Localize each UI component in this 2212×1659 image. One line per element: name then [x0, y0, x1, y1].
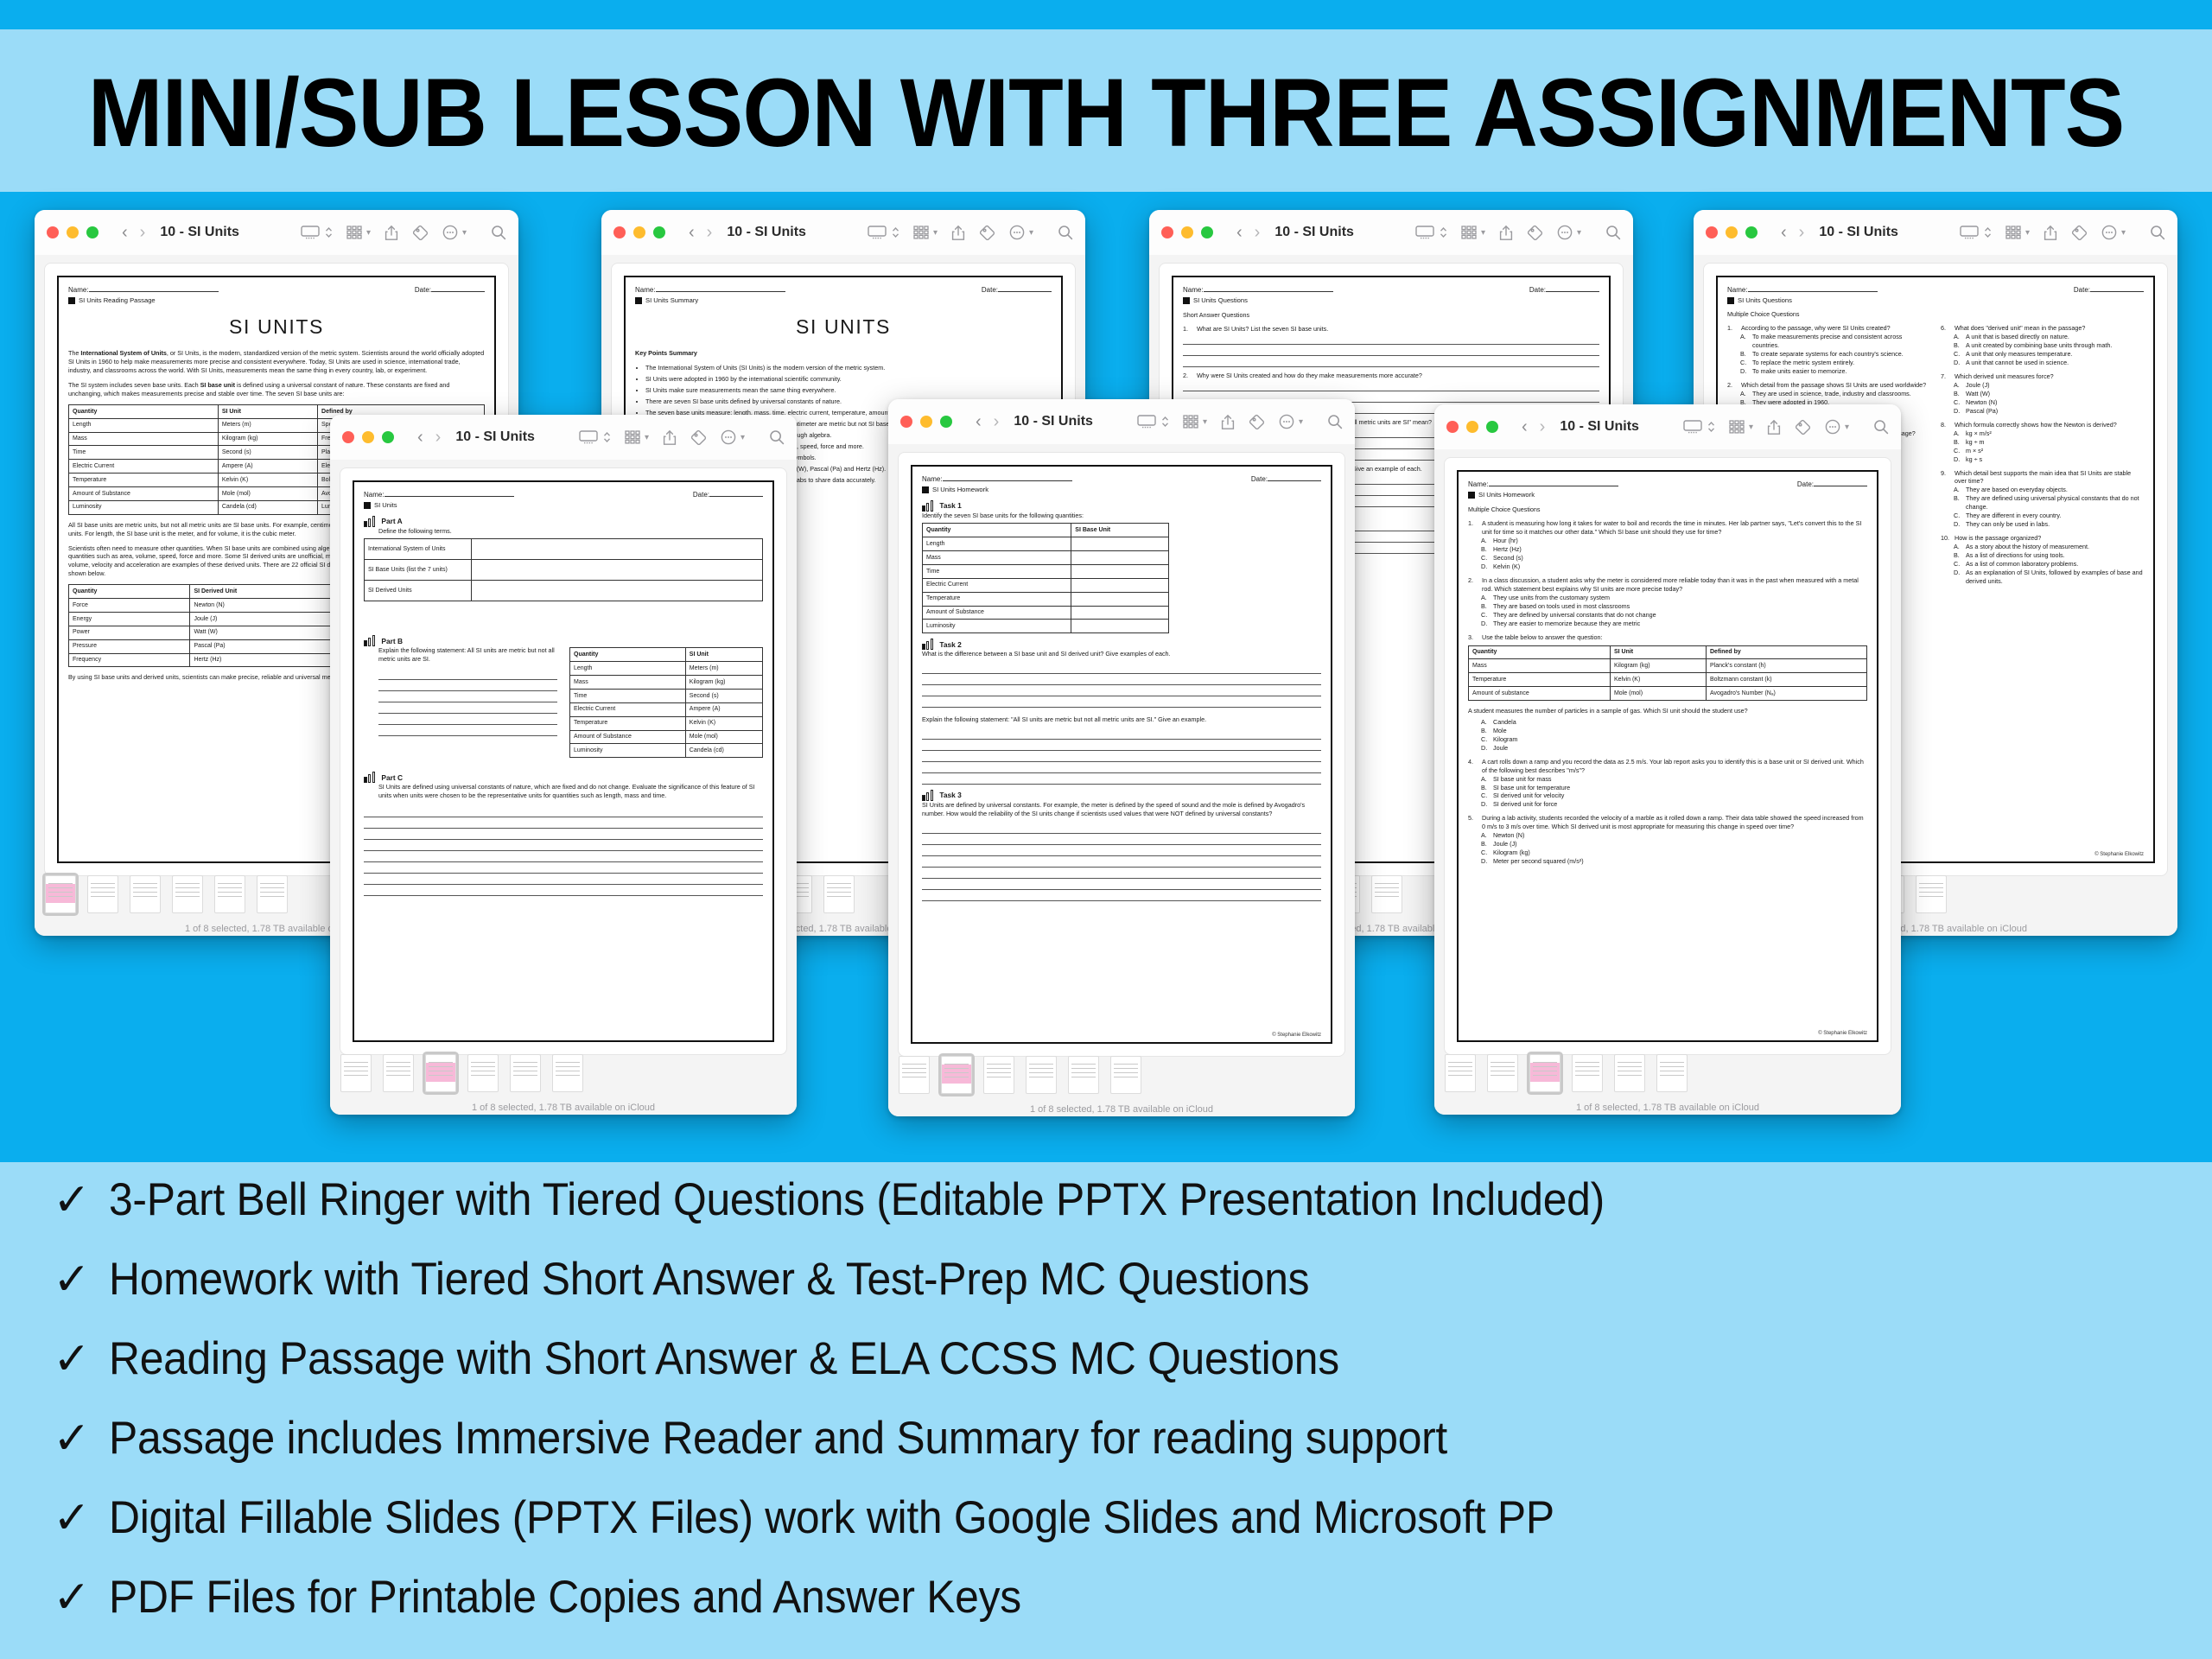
forward-button[interactable]: › — [140, 223, 146, 243]
date-field-label: Date: — [2074, 285, 2144, 295]
mc-option: B.They are based on tools used in most c… — [1481, 602, 1867, 611]
share-icon[interactable] — [1767, 419, 1781, 435]
window-titlebar[interactable]: ‹ › 10 - SI Units ▾ ▾ — [601, 210, 1085, 255]
zoom-button[interactable] — [1201, 226, 1213, 238]
grid-view-icon[interactable] — [625, 430, 640, 444]
minimize-button[interactable] — [67, 226, 79, 238]
window-title: 10 - SI Units — [1014, 414, 1093, 429]
more-actions-icon[interactable] — [1557, 225, 1573, 240]
task-2-instruction: What is the difference between a SI base… — [922, 650, 1321, 658]
cell: Kelvin (K) — [218, 474, 317, 487]
window-content: Name: Date: SI Units Homework Task 1 Ide… — [888, 444, 1355, 1116]
display-icon[interactable] — [1960, 226, 1979, 239]
feature-list: ✓3-Part Bell Ringer with Tiered Question… — [35, 1173, 2195, 1650]
chevron-down-icon[interactable]: ▾ — [1481, 228, 1485, 238]
task-3-instruction: SI Units are defined by universal consta… — [922, 801, 1321, 818]
back-button[interactable]: ‹ — [417, 428, 423, 448]
forward-button[interactable]: › — [1799, 223, 1805, 243]
traffic-lights[interactable] — [900, 416, 952, 428]
zoom-button[interactable] — [653, 226, 665, 238]
date-field-label: Date: — [1797, 480, 1867, 489]
search-icon[interactable] — [769, 429, 785, 445]
top-accent-strip — [0, 0, 2212, 29]
check-icon: ✓ — [35, 1257, 109, 1302]
answer-line — [1183, 356, 1599, 367]
table-row: TemperatureKelvin (K)Boltzmann constant … — [1469, 673, 1867, 687]
grid-view-icon[interactable] — [913, 226, 929, 239]
feature-item: ✓Homework with Tiered Short Answer & Tes… — [35, 1253, 2195, 1332]
share-icon[interactable] — [1499, 225, 1513, 241]
search-icon[interactable] — [2150, 225, 2165, 240]
traffic-lights[interactable] — [613, 226, 665, 238]
window-title: 10 - SI Units — [455, 429, 535, 445]
window-bell-ringer[interactable]: ‹ › 10 - SI Units ▾ ▾ Name: Date: SI Uni… — [330, 415, 797, 1115]
cell: Kilogram (kg) — [1610, 659, 1706, 673]
part-c-header: Part C — [364, 772, 763, 783]
forward-button[interactable]: › — [1540, 417, 1546, 437]
mc-option: C.A unit that only measures temperature. — [1954, 350, 2144, 359]
mc-options: A.Newton (N)B.Joule (J)C.Kilogram (kg)D.… — [1481, 831, 1867, 866]
file-thumbnail[interactable] — [214, 875, 245, 913]
cell: Kelvin (K) — [685, 716, 762, 730]
question-number: 7. — [1941, 372, 1950, 381]
column-header: Quantity — [1469, 645, 1611, 659]
mc-substem: A student measures the number of particl… — [1468, 707, 1867, 715]
file-thumbnail[interactable] — [1487, 1054, 1518, 1092]
answer-line — [922, 728, 1321, 740]
minimize-button[interactable] — [920, 416, 932, 428]
answer-line — [364, 840, 763, 851]
zoom-button[interactable] — [382, 431, 394, 443]
task-2-followup: Explain the following statement: "All SI… — [922, 715, 1321, 724]
zoom-button[interactable] — [86, 226, 99, 238]
minimize-button[interactable] — [1466, 421, 1478, 433]
stepper-icon[interactable] — [325, 226, 333, 239]
file-thumbnail[interactable] — [552, 1054, 583, 1092]
back-button[interactable]: ‹ — [976, 412, 982, 432]
list-item: SI Units make sure measurements mean the… — [645, 386, 1052, 395]
cell: Mass — [923, 551, 1071, 565]
answer-line — [922, 879, 1321, 890]
status-bar: 1 of 8 selected, 1.78 TB available on iC… — [330, 1103, 797, 1113]
grid-view-icon[interactable] — [1183, 415, 1198, 429]
answer-line — [922, 685, 1321, 696]
cell: Force — [69, 599, 190, 613]
chevron-down-icon[interactable]: ▾ — [2121, 228, 2126, 238]
cell: Temperature — [570, 716, 686, 730]
cell: Amount of Substance — [923, 606, 1071, 620]
stepper-icon[interactable] — [1984, 226, 1992, 239]
search-icon[interactable] — [491, 225, 506, 240]
square-icon — [364, 502, 371, 509]
forward-button[interactable]: › — [1255, 223, 1261, 243]
chevron-down-icon[interactable]: ▾ — [1577, 228, 1581, 238]
display-icon[interactable] — [579, 430, 598, 444]
mc-option: D.As an explanation of SI Units, followe… — [1954, 569, 2144, 586]
file-thumbnail-strip[interactable] — [899, 1054, 1344, 1094]
chevron-down-icon[interactable]: ▾ — [741, 433, 745, 442]
answer-line — [378, 680, 557, 691]
grid-view-icon[interactable] — [2005, 226, 2021, 239]
cell-blank — [1071, 578, 1169, 592]
mc-option: C.Kilogram (kg) — [1481, 849, 1867, 857]
chevron-down-icon[interactable]: ▾ — [1029, 228, 1033, 238]
search-icon[interactable] — [1327, 414, 1343, 429]
column-header: Quantity — [69, 404, 219, 418]
check-icon: ✓ — [35, 1416, 109, 1461]
back-button[interactable]: ‹ — [689, 223, 695, 243]
back-button[interactable]: ‹ — [1236, 223, 1243, 243]
file-thumbnail[interactable] — [941, 1056, 972, 1094]
date-field-label: Date: — [693, 490, 763, 499]
mc-option: B.They are defined using universal physi… — [1954, 494, 2144, 512]
question-number: 1. — [1727, 324, 1737, 333]
grid-view-icon[interactable] — [1729, 420, 1745, 434]
mc-option: D.To make units easier to memorize. — [1740, 367, 1930, 376]
more-actions-icon[interactable] — [1279, 414, 1294, 429]
back-button[interactable]: ‹ — [1781, 223, 1787, 243]
file-thumbnail[interactable] — [983, 1056, 1014, 1094]
chevron-down-icon[interactable]: ▾ — [1299, 417, 1303, 427]
table-row: TemperatureKelvin (K) — [570, 716, 763, 730]
minimize-button[interactable] — [362, 431, 374, 443]
mc-question: 3. Use the table below to answer the que… — [1468, 633, 1867, 753]
mc-options: A.Joule (J)B.Watt (W)C.Newton (N)D.Pasca… — [1954, 381, 2144, 416]
answer-line — [1183, 345, 1599, 356]
answer-line — [378, 669, 557, 680]
check-icon: ✓ — [35, 1178, 109, 1223]
window-homework-mc[interactable]: ‹ › 10 - SI Units ▾ ▾ Name: Date: SI Uni… — [1434, 404, 1901, 1115]
tag-icon[interactable] — [690, 429, 707, 445]
answer-line — [378, 714, 557, 725]
name-date-row: Name: Date: — [922, 474, 1321, 484]
file-thumbnail[interactable] — [1529, 1054, 1560, 1092]
chevron-down-icon[interactable]: ▾ — [645, 433, 649, 442]
file-thumbnail[interactable] — [1068, 1056, 1099, 1094]
answer-line — [922, 740, 1321, 751]
file-thumbnail[interactable] — [899, 1056, 930, 1094]
file-thumbnail[interactable] — [425, 1054, 456, 1092]
file-thumbnail[interactable] — [510, 1054, 541, 1092]
name-field-label: Name: — [364, 490, 514, 499]
cell-blank — [1071, 592, 1169, 606]
mc-option: C.SI derived unit for velocity — [1481, 791, 1867, 800]
chevron-down-icon[interactable]: ▾ — [2025, 228, 2030, 238]
close-button[interactable] — [613, 226, 626, 238]
file-thumbnail-strip[interactable] — [1445, 1052, 1891, 1092]
mc-option: C.Newton (N) — [1954, 398, 2144, 407]
file-thumbnail[interactable] — [1371, 875, 1402, 913]
traffic-lights[interactable] — [1706, 226, 1758, 238]
mc-options: A.They are based on everyday objects.B.T… — [1954, 486, 2144, 529]
tag-icon[interactable] — [2071, 225, 2088, 240]
mc-option: D.Pascal (Pa) — [1954, 407, 2144, 416]
list-item: SI Units were adopted in 1960 by the int… — [645, 375, 1052, 384]
answer-line — [922, 696, 1321, 708]
minimize-button[interactable] — [1181, 226, 1193, 238]
more-actions-icon[interactable] — [442, 225, 458, 240]
share-icon[interactable] — [1221, 414, 1235, 430]
window-content: Name: Date: SI Units Part A Define the f… — [330, 460, 797, 1115]
cell: Ampere (A) — [218, 460, 317, 474]
file-thumbnail[interactable] — [1614, 1054, 1645, 1092]
more-actions-icon[interactable] — [1825, 419, 1840, 435]
file-thumbnail[interactable] — [383, 1054, 414, 1092]
mc-option: D.Kelvin (K) — [1481, 563, 1867, 571]
question-stem: Which detail from the passage shows SI U… — [1741, 381, 1926, 390]
display-icon[interactable] — [1683, 420, 1702, 434]
answer-line — [922, 890, 1321, 901]
minimize-button[interactable] — [633, 226, 645, 238]
window-titlebar[interactable]: ‹ › 10 - SI Units ▾ ▾ — [35, 210, 518, 255]
feature-item: ✓Reading Passage with Short Answer & ELA… — [35, 1332, 2195, 1412]
table-row: MassKilogram (kg) — [570, 676, 763, 690]
chevron-down-icon[interactable]: ▾ — [1749, 423, 1753, 432]
traffic-lights[interactable] — [1446, 421, 1498, 433]
zoom-button[interactable] — [1486, 421, 1498, 433]
stepper-icon[interactable] — [603, 430, 611, 444]
question-stem: A cart rolls down a ramp and you record … — [1482, 758, 1867, 775]
window-titlebar[interactable]: ‹ › 10 - SI Units ▾ ▾ — [1694, 210, 2177, 255]
cell: Kelvin (K) — [1610, 673, 1706, 687]
back-button[interactable]: ‹ — [122, 223, 128, 243]
cell: Time — [570, 689, 686, 702]
mc-column-right: 6. What does "derived unit" mean in the … — [1941, 324, 2144, 590]
answer-line — [364, 806, 763, 817]
task-1-header: Task 1 — [922, 501, 1321, 512]
forward-button[interactable]: › — [435, 428, 442, 448]
file-thumbnail[interactable] — [87, 875, 118, 913]
document-tag: SI Units — [364, 501, 763, 510]
answer-line — [364, 885, 763, 896]
mc-question: 7. Which derived unit measures force? A.… — [1941, 372, 2144, 416]
chevron-down-icon[interactable]: ▾ — [933, 228, 938, 238]
mc-option: A.kg × m/s² — [1954, 429, 2144, 438]
file-thumbnail-strip[interactable] — [340, 1052, 786, 1092]
close-button[interactable] — [342, 431, 354, 443]
homework-mc-document: Name: Date: SI Units Homework Multiple C… — [1468, 480, 1867, 866]
search-icon[interactable] — [1605, 225, 1621, 240]
mc-option: C.They are defined by universal constant… — [1481, 611, 1867, 620]
file-thumbnail[interactable] — [1572, 1054, 1603, 1092]
share-icon[interactable] — [385, 225, 398, 241]
bar-chart-icon — [364, 517, 375, 527]
answer-line — [378, 702, 557, 714]
file-thumbnail[interactable] — [172, 875, 203, 913]
mc-option: C.To replace the metric system entirely. — [1740, 359, 1930, 367]
mc-options: A.They use units from the customary syst… — [1481, 594, 1867, 628]
cell: Power — [69, 626, 190, 639]
document-preview[interactable]: Name: Date: SI Units Part A Define the f… — [340, 468, 786, 1054]
cell: Mass — [570, 676, 686, 690]
chevron-down-icon[interactable]: ▾ — [1203, 417, 1207, 427]
table-row: Electric Current — [923, 578, 1169, 592]
document-preview[interactable]: Name: Date: SI Units Homework Multiple C… — [1445, 458, 1891, 1054]
close-button[interactable] — [1446, 421, 1459, 433]
file-thumbnail[interactable] — [1445, 1054, 1476, 1092]
name-field-label: Name: — [68, 285, 219, 295]
section-heading: Multiple Choice Questions — [1468, 505, 1867, 514]
answer-line — [378, 725, 557, 736]
answer-cell[interactable] — [472, 560, 763, 581]
forward-button[interactable]: › — [707, 223, 713, 243]
answer-cell[interactable] — [472, 539, 763, 560]
list-item: The International System of Units (SI Un… — [645, 364, 1052, 372]
copyright-text: © Stephanie Elkowitz — [1272, 1032, 1321, 1039]
grid-view-icon[interactable] — [346, 226, 362, 239]
share-icon[interactable] — [663, 429, 677, 446]
file-thumbnail[interactable] — [340, 1054, 372, 1092]
cell-blank — [1071, 537, 1169, 551]
zoom-button[interactable] — [1745, 226, 1758, 238]
mc-option: B.Mole — [1481, 727, 1867, 735]
name-date-row: Name: Date: — [1468, 480, 1867, 489]
answer-cell[interactable] — [472, 581, 763, 601]
chevron-down-icon[interactable]: ▾ — [366, 228, 371, 238]
stepper-icon[interactable] — [1707, 420, 1715, 434]
answer-line — [364, 851, 763, 862]
display-icon[interactable] — [301, 226, 320, 239]
poster-root: MINI/SUB LESSON WITH THREE ASSIGNMENTS ‹… — [0, 0, 2212, 1659]
date-field-label: Date: — [415, 285, 485, 295]
cell: Ampere (A) — [685, 702, 762, 716]
file-thumbnail[interactable] — [1656, 1054, 1688, 1092]
close-button[interactable] — [1706, 226, 1718, 238]
minimize-button[interactable] — [1726, 226, 1738, 238]
feature-item-label: Passage includes Immersive Reader and Su… — [109, 1412, 1447, 1465]
answer-line — [922, 845, 1321, 856]
stepper-icon[interactable] — [1440, 226, 1447, 239]
cell: Kilogram (kg) — [218, 432, 317, 446]
forward-button[interactable]: › — [994, 412, 1000, 432]
table-row: Electric CurrentAmpere (A) — [570, 702, 763, 716]
tag-icon[interactable] — [979, 225, 995, 240]
window-titlebar[interactable]: ‹ › 10 - SI Units ▾ ▾ — [330, 415, 797, 460]
term-cell: SI Base Units (list the 7 units) — [365, 560, 472, 581]
tag-icon[interactable] — [1249, 414, 1265, 429]
chevron-down-icon[interactable]: ▾ — [462, 228, 467, 238]
question-number: 10. — [1941, 534, 1950, 543]
traffic-lights[interactable] — [47, 226, 99, 238]
window-titlebar[interactable]: ‹ › 10 - SI Units ▾ ▾ — [1434, 404, 1901, 449]
cell: Time — [923, 564, 1071, 578]
zoom-button[interactable] — [940, 416, 952, 428]
document-tag: SI Units Questions — [1183, 296, 1599, 305]
file-thumbnail[interactable] — [1110, 1056, 1141, 1094]
column-header: Quantity — [570, 648, 686, 662]
mc-options: A.A unit that is based directly on natur… — [1954, 333, 2144, 367]
cell: Planck's constant (h) — [1707, 659, 1867, 673]
mc-option: A.A unit that is based directly on natur… — [1954, 333, 2144, 341]
mc-option: C.Second (s) — [1481, 554, 1867, 563]
window-titlebar[interactable]: ‹ › 10 - SI Units ▾ ▾ — [1149, 210, 1633, 255]
cell: Candela (cd) — [685, 744, 762, 758]
cell: Length — [570, 662, 686, 676]
mc-option: A.Hour (hr) — [1481, 537, 1867, 545]
question-number: 4. — [1468, 758, 1478, 775]
traffic-lights[interactable] — [342, 431, 394, 443]
answer-line — [364, 862, 763, 874]
answer-line — [922, 674, 1321, 685]
file-thumbnail[interactable] — [467, 1054, 499, 1092]
name-date-row: Name: Date: — [68, 285, 485, 295]
question-stem: According to the passage, why were SI Un… — [1741, 324, 1891, 333]
question-stem: What does "derived unit" mean in the pas… — [1955, 324, 2085, 333]
feature-item-label: PDF Files for Printable Copies and Answe… — [109, 1571, 1021, 1624]
file-thumbnail[interactable] — [257, 875, 288, 913]
search-icon[interactable] — [1058, 225, 1073, 240]
table-row: LengthMeters (m) — [570, 662, 763, 676]
display-icon[interactable] — [1137, 415, 1156, 429]
name-date-row: Name: Date: — [1727, 285, 2144, 295]
close-button[interactable] — [900, 416, 912, 428]
back-button[interactable]: ‹ — [1522, 417, 1528, 437]
document-page: Name: Date: SI Units Homework Task 1 Ide… — [911, 465, 1332, 1044]
part-b-instruction: Explain the following statement: All SI … — [378, 646, 557, 664]
close-button[interactable] — [47, 226, 59, 238]
cell: Kilogram (kg) — [685, 676, 762, 690]
homework-document: Name: Date: SI Units Homework Task 1 Ide… — [922, 474, 1321, 901]
tag-icon[interactable] — [412, 225, 429, 240]
answer-line — [1183, 334, 1599, 345]
close-button[interactable] — [1161, 226, 1173, 238]
mc-option: A.Joule (J) — [1954, 381, 2144, 390]
search-icon[interactable] — [1873, 419, 1889, 435]
check-icon: ✓ — [35, 1575, 109, 1620]
grid-view-icon[interactable] — [1461, 226, 1477, 239]
traffic-lights[interactable] — [1161, 226, 1213, 238]
display-icon[interactable] — [868, 226, 887, 239]
document-preview[interactable]: Name: Date: SI Units Homework Task 1 Ide… — [899, 453, 1344, 1056]
window-homework[interactable]: ‹ › 10 - SI Units ▾ ▾ Name: Date: SI Uni… — [888, 399, 1355, 1116]
question-text: Why were SI Units created and how do the… — [1197, 372, 1422, 380]
more-actions-icon[interactable] — [721, 429, 736, 445]
tag-icon[interactable] — [1527, 225, 1543, 240]
mc-option: A.Newton (N) — [1481, 831, 1867, 840]
window-titlebar[interactable]: ‹ › 10 - SI Units ▾ ▾ — [888, 399, 1355, 444]
table-row: LuminosityCandela (cd) — [570, 744, 763, 758]
share-icon[interactable] — [2044, 225, 2057, 241]
window-title: 10 - SI Units — [160, 225, 239, 240]
cell: Meters (m) — [685, 662, 762, 676]
tag-icon[interactable] — [1795, 419, 1811, 435]
stepper-icon[interactable] — [892, 226, 899, 239]
mc-option: D.kg ÷ s — [1954, 455, 2144, 464]
chevron-down-icon[interactable]: ▾ — [1845, 423, 1849, 432]
share-icon[interactable] — [951, 225, 965, 241]
cell: Amount of Substance — [570, 730, 686, 744]
more-actions-icon[interactable] — [1009, 225, 1025, 240]
mc-option: D.They can only be used in labs. — [1954, 520, 2144, 529]
question-stem: In a class discussion, a student asks wh… — [1482, 576, 1867, 594]
name-date-row: Name: Date: — [635, 285, 1052, 295]
name-field-label: Name: — [635, 285, 785, 295]
mc-question: 9. Which detail best supports the main i… — [1941, 469, 2144, 530]
file-thumbnail[interactable] — [130, 875, 161, 913]
cell: Mass — [1469, 659, 1611, 673]
cell: Candela (cd) — [218, 500, 317, 514]
document-tag: SI Units Homework — [1468, 491, 1867, 499]
file-thumbnail[interactable] — [45, 875, 76, 913]
more-actions-icon[interactable] — [2101, 225, 2117, 240]
file-thumbnail[interactable] — [1026, 1056, 1057, 1094]
file-thumbnail[interactable] — [1916, 875, 1947, 913]
file-thumbnail[interactable] — [823, 875, 855, 913]
stepper-icon[interactable] — [1161, 415, 1169, 429]
mc-option: A.They are used in science, trade, indus… — [1740, 390, 1930, 398]
check-icon: ✓ — [35, 1337, 109, 1382]
display-icon[interactable] — [1415, 226, 1434, 239]
